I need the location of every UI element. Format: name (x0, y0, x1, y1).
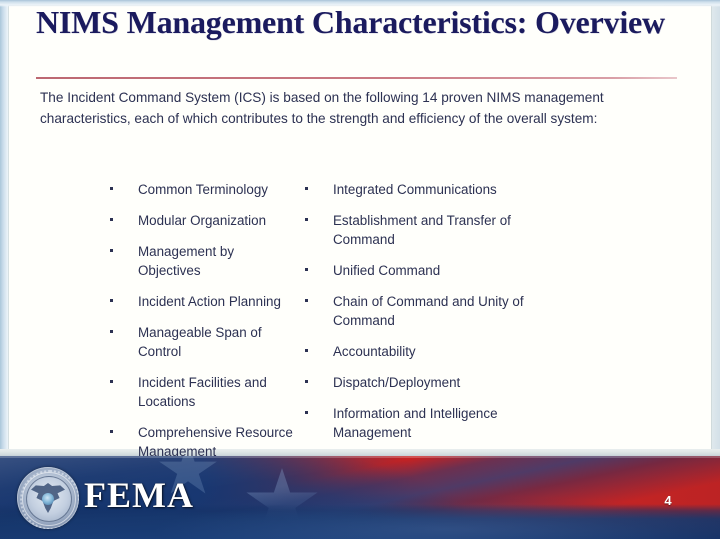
list-item-label: Common Terminology (138, 180, 268, 199)
seal-center-emblem (42, 493, 54, 505)
bullet-column-left: Common Terminology Modular Organization … (0, 180, 300, 473)
slide: NIMS Management Characteristics: Overvie… (0, 0, 720, 539)
list-item-label: Management by Objectives (138, 242, 300, 280)
list-item-label: Chain of Command and Unity of Command (333, 292, 558, 330)
list-item-label: Incident Action Planning (138, 292, 281, 311)
bullet-dot-icon (110, 380, 113, 383)
list-item-label: Unified Command (333, 261, 440, 280)
fema-wordmark: FEMA (84, 474, 194, 516)
list-item: Establishment and Transfer of Command (305, 211, 640, 249)
list-item-label: Establishment and Transfer of Command (333, 211, 558, 249)
list-item: Incident Facilities and Locations (110, 373, 300, 411)
dhs-seal-icon (17, 467, 79, 529)
bullet-dot-icon (110, 218, 113, 221)
bullet-dot-icon (110, 187, 113, 190)
bullet-column-right: Integrated Communications Establishment … (300, 180, 640, 473)
list-item: Unified Command (305, 261, 640, 280)
bullet-dot-icon (305, 299, 308, 302)
list-item-label: Incident Facilities and Locations (138, 373, 300, 411)
list-item: Accountability (305, 342, 640, 361)
list-item: Modular Organization (110, 211, 300, 230)
list-item: Common Terminology (110, 180, 300, 199)
list-item: Management by Objectives (110, 242, 300, 280)
bullet-dot-icon (305, 380, 308, 383)
bullet-dot-icon (110, 249, 113, 252)
list-item: Chain of Command and Unity of Command (305, 292, 640, 330)
list-item: Manageable Span of Control (110, 323, 300, 361)
banner-top-highlight (0, 456, 720, 458)
slide-number: 4 (655, 493, 681, 508)
list-item-label: Modular Organization (138, 211, 266, 230)
intro-paragraph: The Incident Command System (ICS) is bas… (40, 88, 630, 129)
bullet-dot-icon (305, 218, 308, 221)
bullet-dot-icon (305, 411, 308, 414)
title-underline-rule (36, 77, 677, 79)
page-title: NIMS Management Characteristics: Overvie… (36, 4, 686, 40)
bullet-dot-icon (305, 268, 308, 271)
list-item: Information and Intelligence Management (305, 404, 640, 442)
list-item-label: Integrated Communications (333, 180, 497, 199)
bullet-dot-icon (110, 330, 113, 333)
bullet-columns: Common Terminology Modular Organization … (0, 180, 720, 473)
bullet-dot-icon (305, 349, 308, 352)
bullet-dot-icon (110, 299, 113, 302)
list-item-label: Information and Intelligence Management (333, 404, 558, 442)
list-item: Integrated Communications (305, 180, 640, 199)
list-item-label: Dispatch/Deployment (333, 373, 460, 392)
list-item: Incident Action Planning (110, 292, 300, 311)
bullet-dot-icon (305, 187, 308, 190)
list-item-label: Manageable Span of Control (138, 323, 300, 361)
list-item: Dispatch/Deployment (305, 373, 640, 392)
bullet-dot-icon (110, 430, 113, 433)
list-item-label: Accountability (333, 342, 416, 361)
